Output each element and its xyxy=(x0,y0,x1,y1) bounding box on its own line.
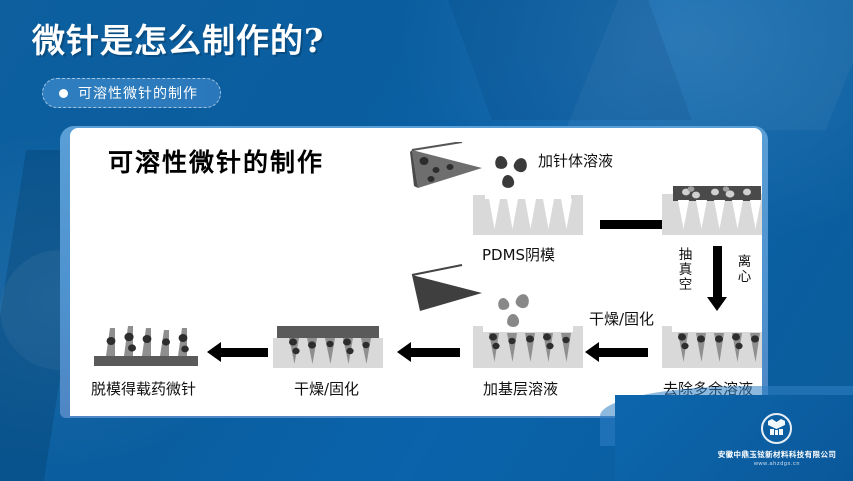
annotation-add-needle-solution: 加针体溶液 xyxy=(538,150,613,171)
droplet-icon-5 xyxy=(514,292,530,309)
footer-band xyxy=(615,395,853,481)
backing-layer-icon xyxy=(473,326,583,368)
step-label-add-backing: 加基层溶液 xyxy=(483,378,558,399)
annotation-centrifuge: 离心 xyxy=(737,255,752,285)
diagram-heading: 可溶性微针的制作 xyxy=(108,143,324,179)
company-emblem-glyph xyxy=(766,418,787,438)
footer-url: www.ahzdgx.cn xyxy=(698,461,853,467)
pdms-mold-icon xyxy=(473,195,583,235)
pipette-icon-2 xyxy=(410,263,492,313)
annotation-dry-cure: 干燥/固化 xyxy=(589,308,654,329)
arrow-bottom-3-icon xyxy=(598,348,648,357)
droplet-icon-4 xyxy=(496,297,510,312)
arrow-bottom-1-icon xyxy=(220,348,268,357)
droplet-icon-1 xyxy=(493,154,508,170)
subtitle-pill: 可溶性微针的制作 xyxy=(42,78,221,108)
subtitle-pill-label: 可溶性微针的制作 xyxy=(78,83,198,103)
pipette-icon-1 xyxy=(410,142,490,194)
annotation-vacuum-text: 抽真空 xyxy=(679,247,693,293)
footer-company-name: 安徽中鼎玉铉新材料科技有限公司 xyxy=(698,449,853,460)
dried-patch-icon xyxy=(273,322,383,368)
demolded-patch-icon xyxy=(90,324,200,368)
step-label-demolded-patch: 脱模得载药微针 xyxy=(91,378,196,399)
step-label-dry-cure: 干燥/固化 xyxy=(294,378,359,399)
slide-root: 微针是怎么制作的? 可溶性微针的制作 可溶性微针的制作 xyxy=(0,0,853,481)
droplet-icon-3 xyxy=(501,174,515,189)
background-shade-2 xyxy=(448,0,692,120)
arrow-bottom-2-icon xyxy=(410,348,460,357)
diagram-canvas: 可溶性微针的制作 加针体溶液 xyxy=(70,128,762,416)
page-title: 微针是怎么制作的? xyxy=(32,14,324,62)
dot-icon xyxy=(59,89,68,98)
annotation-centrifuge-text: 离心 xyxy=(738,254,752,285)
droplet-icon-2 xyxy=(512,157,528,174)
content-panel: 可溶性微针的制作 加针体溶液 xyxy=(60,126,768,418)
step-label-pdms-mold: PDMS阴模 xyxy=(482,244,555,265)
filled-mold-icon xyxy=(662,185,762,235)
excess-removed-mold-icon xyxy=(662,326,762,368)
arrow-vertical-down-icon xyxy=(713,246,722,298)
background-streak-1 xyxy=(566,0,853,130)
arrow-top-right-icon xyxy=(600,220,668,229)
annotation-vacuum: 抽真空 xyxy=(678,248,693,293)
